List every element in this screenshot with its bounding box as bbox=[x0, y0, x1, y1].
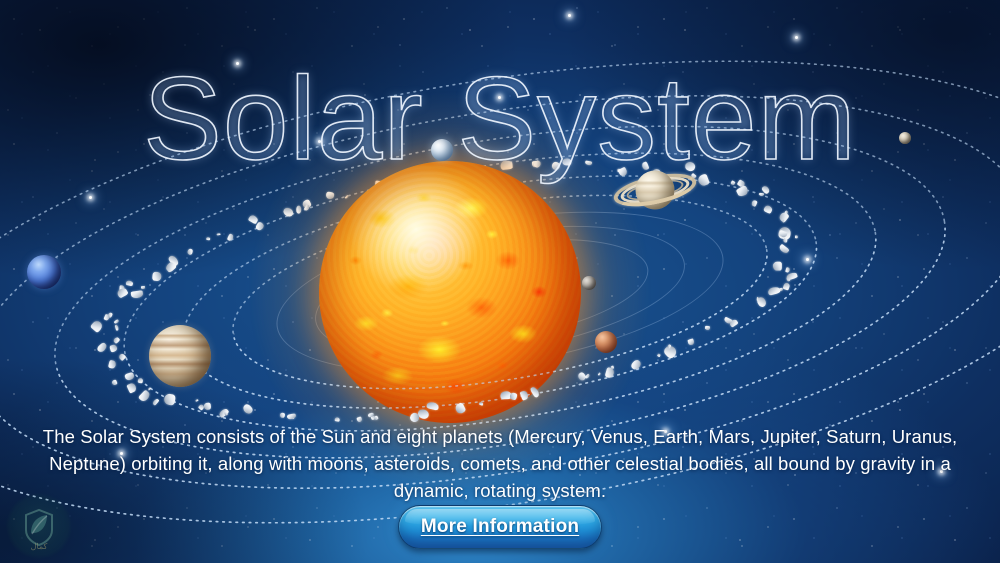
description-text: The Solar System consists of the Sun and… bbox=[40, 423, 960, 504]
planet-jupiter bbox=[149, 325, 211, 387]
planet-mars bbox=[595, 331, 617, 353]
watermark-logo: كمال bbox=[6, 493, 72, 559]
planet-neptune bbox=[27, 255, 61, 289]
watermark-label: كمال bbox=[6, 542, 72, 551]
cta-row: More Information bbox=[0, 505, 1000, 549]
planet-mercury bbox=[582, 276, 596, 290]
page-title: Solar System bbox=[0, 60, 1000, 178]
solar-system-slide: Solar System The Solar System consists o… bbox=[0, 0, 1000, 563]
more-information-button[interactable]: More Information bbox=[398, 505, 602, 549]
